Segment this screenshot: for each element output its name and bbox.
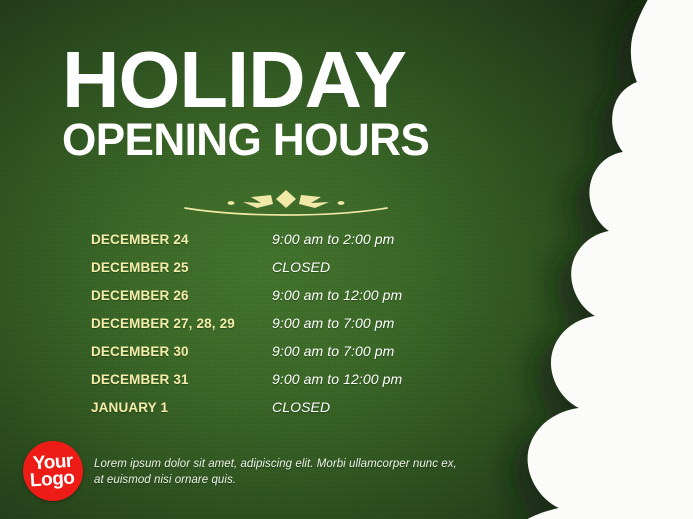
title-line-opening-hours: OPENING HOURS xyxy=(62,122,474,159)
schedule-date: JANUARY 1 xyxy=(91,400,272,415)
table-row: DECEMBER 31 9:00 am to 12:00 pm xyxy=(91,371,471,399)
table-row: DECEMBER 27, 28, 29 9:00 am to 7:00 pm xyxy=(91,315,471,343)
opening-hours-table: DECEMBER 24 9:00 am to 2:00 pm DECEMBER … xyxy=(91,231,471,427)
table-row: DECEMBER 25 CLOSED xyxy=(91,259,471,287)
schedule-hours: 9:00 am to 12:00 pm xyxy=(272,287,402,303)
schedule-date: DECEMBER 25 xyxy=(91,260,272,275)
schedule-date: DECEMBER 30 xyxy=(91,344,272,359)
holiday-hours-poster: HOLIDAY OPENING HOURS DECEMBER 24 9:00 a xyxy=(0,0,693,519)
footer-text: Lorem ipsum dolor sit amet, adipiscing e… xyxy=(94,456,469,489)
table-row: DECEMBER 24 9:00 am to 2:00 pm xyxy=(91,231,471,259)
logo-badge: Your Logo xyxy=(23,441,83,501)
table-row: DECEMBER 30 9:00 am to 7:00 pm xyxy=(91,343,471,371)
schedule-date: DECEMBER 26 xyxy=(91,288,272,303)
page-title: HOLIDAY OPENING HOURS xyxy=(62,48,482,159)
logo-text-line-2: Logo xyxy=(29,469,75,490)
schedule-date: DECEMBER 24 xyxy=(91,232,272,247)
schedule-hours: CLOSED xyxy=(272,259,330,275)
schedule-hours: 9:00 am to 7:00 pm xyxy=(272,343,394,359)
schedule-hours: CLOSED xyxy=(272,399,330,415)
schedule-hours: 9:00 am to 7:00 pm xyxy=(272,315,394,331)
table-row: JANUARY 1 CLOSED xyxy=(91,399,471,427)
table-row: DECEMBER 26 9:00 am to 12:00 pm xyxy=(91,287,471,315)
ornament-divider-icon xyxy=(183,186,389,216)
schedule-hours: 9:00 am to 12:00 pm xyxy=(272,371,402,387)
title-line-holiday: HOLIDAY xyxy=(62,48,480,112)
schedule-date: DECEMBER 31 xyxy=(91,372,272,387)
schedule-hours: 9:00 am to 2:00 pm xyxy=(272,231,394,247)
schedule-date: DECEMBER 27, 28, 29 xyxy=(91,316,272,331)
